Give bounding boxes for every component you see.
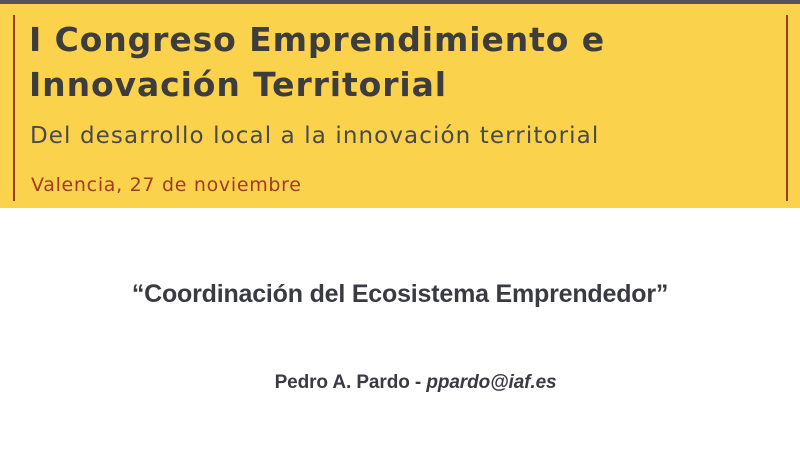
event-date-location: Valencia, 27 de noviembre: [31, 172, 771, 198]
slide-body: “Coordinación del Ecosistema Emprendedor…: [0, 208, 800, 449]
speaker-name: Pedro A. Pardo: [275, 372, 410, 393]
speaker-line: Pedro A. Pardo - ppardo@iaf.es: [0, 350, 800, 416]
banner-right-vertical-rule: [786, 15, 788, 201]
event-subtitle: Del desarrollo local a la innovación ter…: [30, 121, 770, 151]
speaker-email[interactable]: ppardo@iaf.es: [426, 372, 556, 393]
event-banner: I Congreso Emprendimiento e Innovación T…: [0, 4, 800, 208]
banner-left-vertical-rule: [13, 15, 15, 201]
speaker-separator: -: [410, 372, 427, 393]
talk-title: “Coordinación del Ecosistema Emprendedor…: [0, 280, 800, 309]
event-title: I Congreso Emprendimiento e Innovación T…: [29, 17, 769, 107]
presentation-slide: I Congreso Emprendimiento e Innovación T…: [0, 0, 800, 449]
